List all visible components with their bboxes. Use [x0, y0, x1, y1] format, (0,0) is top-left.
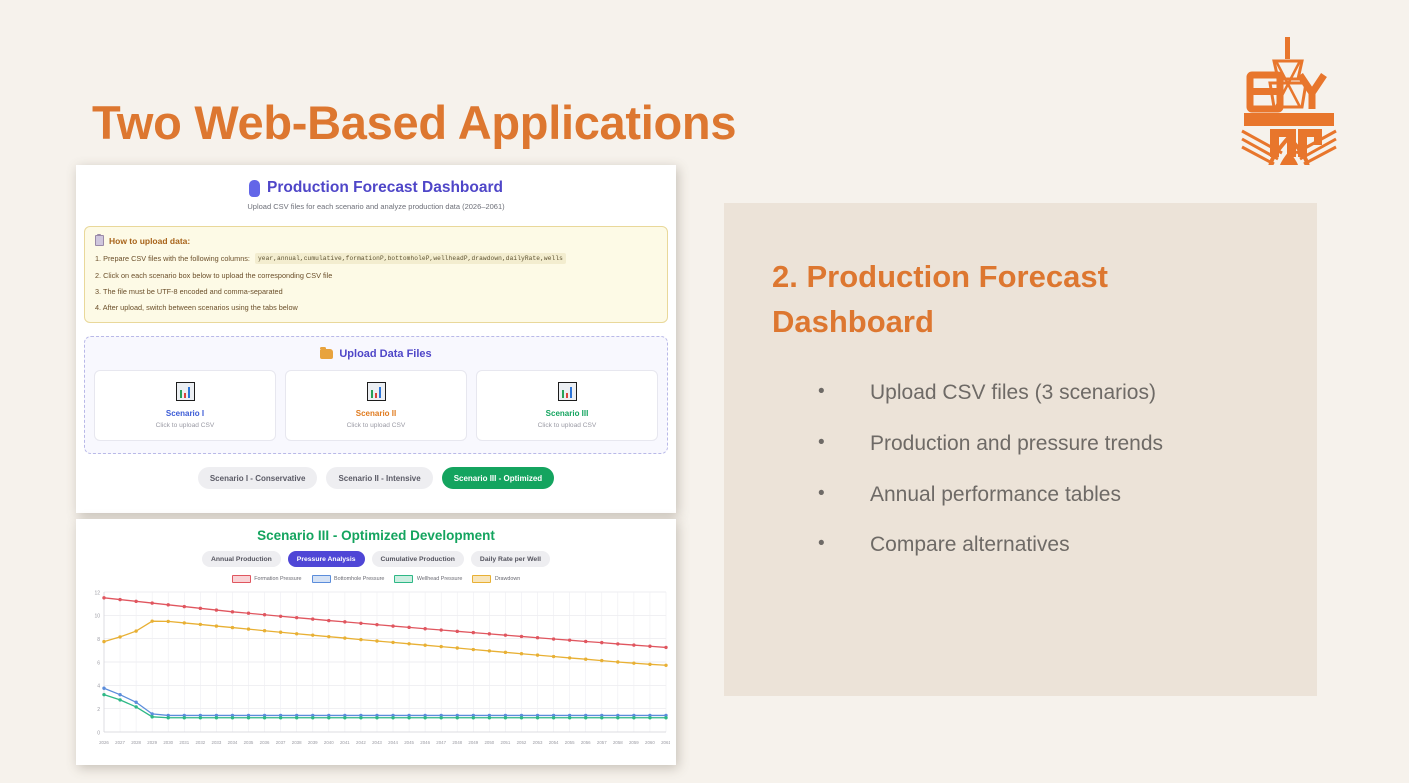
instructions-title: How to upload data:	[109, 236, 190, 246]
svg-text:6: 6	[97, 660, 100, 666]
svg-text:2055: 2055	[565, 740, 575, 745]
svg-text:2033: 2033	[212, 740, 222, 745]
svg-text:2028: 2028	[131, 740, 141, 745]
instruction-line: 4. After upload, switch between scenario…	[95, 303, 657, 312]
bullet-text: Production and pressure trends	[870, 431, 1163, 457]
svg-text:2050: 2050	[484, 740, 494, 745]
upload-card-hint: Click to upload CSV	[290, 422, 462, 429]
svg-text:2054: 2054	[549, 740, 559, 745]
svg-text:2052: 2052	[517, 740, 527, 745]
upload-card-scenario-2[interactable]: Scenario II Click to upload CSV	[285, 370, 467, 441]
bullet-marker: •	[818, 482, 870, 506]
svg-text:0: 0	[97, 730, 100, 736]
scenario-tab-bar: Scenario I - Conservative Scenario II - …	[76, 467, 676, 489]
svg-text:2030: 2030	[163, 740, 173, 745]
svg-text:2060: 2060	[645, 740, 655, 745]
chart-tab-bar: Annual Production Pressure Analysis Cumu…	[76, 551, 676, 567]
upload-card-scenario-1[interactable]: Scenario I Click to upload CSV	[94, 370, 276, 441]
instructions-title-row: How to upload data:	[95, 235, 657, 246]
svg-text:2047: 2047	[436, 740, 446, 745]
svg-text:2061: 2061	[661, 740, 670, 745]
dashboard-screenshot-upload: Production Forecast Dashboard Upload CSV…	[76, 165, 676, 513]
right-info-panel: 2. Production Forecast Dashboard • Uploa…	[724, 203, 1317, 696]
svg-text:2036: 2036	[260, 740, 270, 745]
svg-text:4: 4	[97, 684, 100, 690]
svg-text:2048: 2048	[452, 740, 462, 745]
upload-card-hint: Click to upload CSV	[481, 422, 653, 429]
svg-text:2: 2	[97, 707, 100, 713]
tab-cumulative-production[interactable]: Cumulative Production	[372, 551, 464, 567]
svg-text:2045: 2045	[404, 740, 414, 745]
svg-text:10: 10	[94, 614, 100, 620]
bullet-marker: •	[818, 380, 870, 404]
bullet-marker: •	[818, 532, 870, 556]
svg-text:2043: 2043	[372, 740, 382, 745]
pressure-line-chart: 0246810122026202720282029203020312032203…	[80, 586, 670, 756]
legend-item-bottomhole-pressure[interactable]: Bottomhole Pressure	[312, 575, 385, 583]
legend-item-wellhead-pressure[interactable]: Wellhead Pressure	[394, 575, 462, 583]
svg-text:2026: 2026	[99, 740, 109, 745]
svg-text:2027: 2027	[115, 740, 125, 745]
legend-item-drawdown[interactable]: Drawdown	[472, 575, 520, 583]
dashboard-title: Production Forecast Dashboard	[267, 179, 503, 197]
scenario-tab-intensive[interactable]: Scenario II - Intensive	[326, 467, 432, 489]
svg-text:2035: 2035	[244, 740, 254, 745]
svg-text:2056: 2056	[581, 740, 591, 745]
oil-barrel-icon	[249, 180, 260, 197]
svg-text:2042: 2042	[356, 740, 366, 745]
list-item: • Production and pressure trends	[818, 431, 1298, 457]
legend-label: Bottomhole Pressure	[334, 576, 384, 582]
list-item: • Compare alternatives	[818, 532, 1298, 558]
svg-text:2051: 2051	[501, 740, 511, 745]
legend-label: Formation Pressure	[254, 576, 301, 582]
legend-swatch	[232, 575, 251, 583]
folder-icon	[320, 349, 333, 359]
bullet-marker: •	[818, 431, 870, 455]
bar-chart-icon	[367, 382, 386, 401]
legend-swatch	[394, 575, 413, 583]
svg-text:2034: 2034	[228, 740, 238, 745]
instruction-line: 1. Prepare CSV files with the following …	[95, 253, 657, 264]
upload-heading: Upload Data Files	[339, 348, 431, 360]
list-item: • Upload CSV files (3 scenarios)	[818, 380, 1298, 406]
legend-swatch	[312, 575, 331, 583]
feature-bullet-list: • Upload CSV files (3 scenarios) • Produ…	[818, 380, 1298, 583]
legend-label: Drawdown	[495, 576, 520, 582]
svg-text:2046: 2046	[420, 740, 430, 745]
scenario-tab-conservative[interactable]: Scenario I - Conservative	[198, 467, 318, 489]
instruction-text: 3. The file must be UTF-8 encoded and co…	[95, 287, 283, 296]
svg-text:8: 8	[97, 637, 100, 643]
upload-card-title: Scenario III	[481, 409, 653, 418]
legend-swatch	[472, 575, 491, 583]
svg-text:12: 12	[94, 590, 100, 596]
legend-label: Wellhead Pressure	[417, 576, 462, 582]
svg-text:2057: 2057	[597, 740, 607, 745]
upload-card-title: Scenario I	[99, 409, 271, 418]
instruction-text: 4. After upload, switch between scenario…	[95, 303, 298, 312]
bullet-text: Upload CSV files (3 scenarios)	[870, 380, 1156, 406]
upload-instructions-box: How to upload data: 1. Prepare CSV files…	[84, 226, 668, 323]
dashboard-title-row: Production Forecast Dashboard	[76, 179, 676, 197]
svg-text:2032: 2032	[195, 740, 205, 745]
panel-heading: 2. Production Forecast Dashboard	[772, 255, 1242, 345]
chart-plot-area: 0246810122026202720282029203020312032203…	[76, 586, 676, 756]
bullet-text: Annual performance tables	[870, 482, 1121, 508]
upload-card-scenario-3[interactable]: Scenario III Click to upload CSV	[476, 370, 658, 441]
tab-daily-rate-per-well[interactable]: Daily Rate per Well	[471, 551, 550, 567]
svg-text:2038: 2038	[292, 740, 302, 745]
svg-text:2059: 2059	[629, 740, 639, 745]
svg-text:2058: 2058	[613, 740, 623, 745]
svg-text:2040: 2040	[324, 740, 334, 745]
instruction-line: 3. The file must be UTF-8 encoded and co…	[95, 287, 657, 296]
chart-legend: Formation Pressure Bottomhole Pressure W…	[76, 575, 676, 583]
tab-annual-production[interactable]: Annual Production	[202, 551, 281, 567]
tab-pressure-analysis[interactable]: Pressure Analysis	[288, 551, 365, 567]
instruction-text: 1. Prepare CSV files with the following …	[95, 254, 250, 263]
instruction-line: 2. Click on each scenario box below to u…	[95, 271, 657, 280]
svg-text:2037: 2037	[276, 740, 286, 745]
svg-text:2044: 2044	[388, 740, 398, 745]
legend-item-formation-pressure[interactable]: Formation Pressure	[232, 575, 302, 583]
dashboard-screenshot-chart: Scenario III - Optimized Development Ann…	[76, 519, 676, 765]
clipboard-icon	[95, 235, 104, 246]
csv-columns-code: year,annual,cumulative,formationP,bottom…	[255, 253, 566, 264]
scenario-tab-optimized[interactable]: Scenario III - Optimized	[442, 467, 554, 489]
svg-text:2041: 2041	[340, 740, 350, 745]
svg-text:2031: 2031	[179, 740, 189, 745]
bullet-text: Compare alternatives	[870, 532, 1070, 558]
svg-text:2049: 2049	[468, 740, 478, 745]
upload-dropzone[interactable]: Upload Data Files Scenario I Click to up…	[84, 336, 668, 454]
page-title: Two Web-Based Applications	[92, 95, 736, 150]
chart-title: Scenario III - Optimized Development	[76, 519, 676, 543]
instruction-text: 2. Click on each scenario box below to u…	[95, 271, 332, 280]
svg-text:2039: 2039	[308, 740, 318, 745]
list-item: • Annual performance tables	[818, 482, 1298, 508]
upload-card-title: Scenario II	[290, 409, 462, 418]
upload-card-list: Scenario I Click to upload CSV Scenario …	[94, 370, 658, 441]
upload-card-hint: Click to upload CSV	[99, 422, 271, 429]
upload-heading-row: Upload Data Files	[94, 348, 658, 360]
dashboard-subtitle: Upload CSV files for each scenario and a…	[76, 202, 676, 211]
ivano-frankivsk-ntuog-logo	[1226, 33, 1352, 165]
dashboard-header: Production Forecast Dashboard Upload CSV…	[76, 165, 676, 211]
bar-chart-icon	[558, 382, 577, 401]
svg-text:2029: 2029	[147, 740, 157, 745]
bar-chart-icon	[176, 382, 195, 401]
svg-text:2053: 2053	[533, 740, 543, 745]
